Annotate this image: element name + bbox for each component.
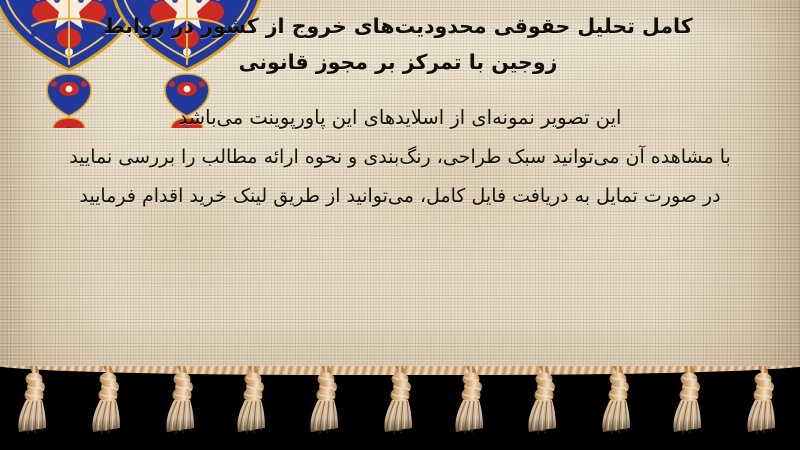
fringe-tassel [522, 366, 568, 438]
fringe-tassel [304, 366, 350, 438]
slide-body: این تصویر نمونه‌ای از اسلایدهای این پاور… [0, 108, 800, 206]
fringe-tassel [595, 366, 641, 438]
slide-canvas: کامل تحلیل حقوقی محدودیت‌های خروج از کشو… [0, 0, 800, 450]
fringe-tassel [377, 366, 423, 438]
fringe-tassel [450, 366, 496, 438]
slide-title: کامل تحلیل حقوقی محدودیت‌های خروج از کشو… [0, 8, 800, 81]
fringe-tassel [741, 366, 787, 438]
fringe-tassel [86, 366, 132, 438]
knotted-tassel-fringe [0, 366, 800, 450]
slide-title-line-1: کامل تحلیل حقوقی محدودیت‌های خروج از کشو… [103, 14, 692, 38]
fringe-tassel [159, 366, 205, 438]
slide-title-line-2: زوجین با تمرکز بر مجوز قانونی [239, 50, 558, 74]
fringe-tassel [232, 366, 278, 438]
fringe-tassel [13, 366, 59, 438]
slide-body-line-1: این تصویر نمونه‌ای از اسلایدهای این پاور… [16, 108, 784, 128]
fringe-tassel [668, 366, 714, 438]
slide-body-line-3: در صورت تمایل به دریافت فایل کامل، می‌تو… [16, 187, 784, 206]
slide-body-line-2: با مشاهده آن می‌توانید سبک طراحی، رنگ‌بن… [16, 148, 784, 167]
